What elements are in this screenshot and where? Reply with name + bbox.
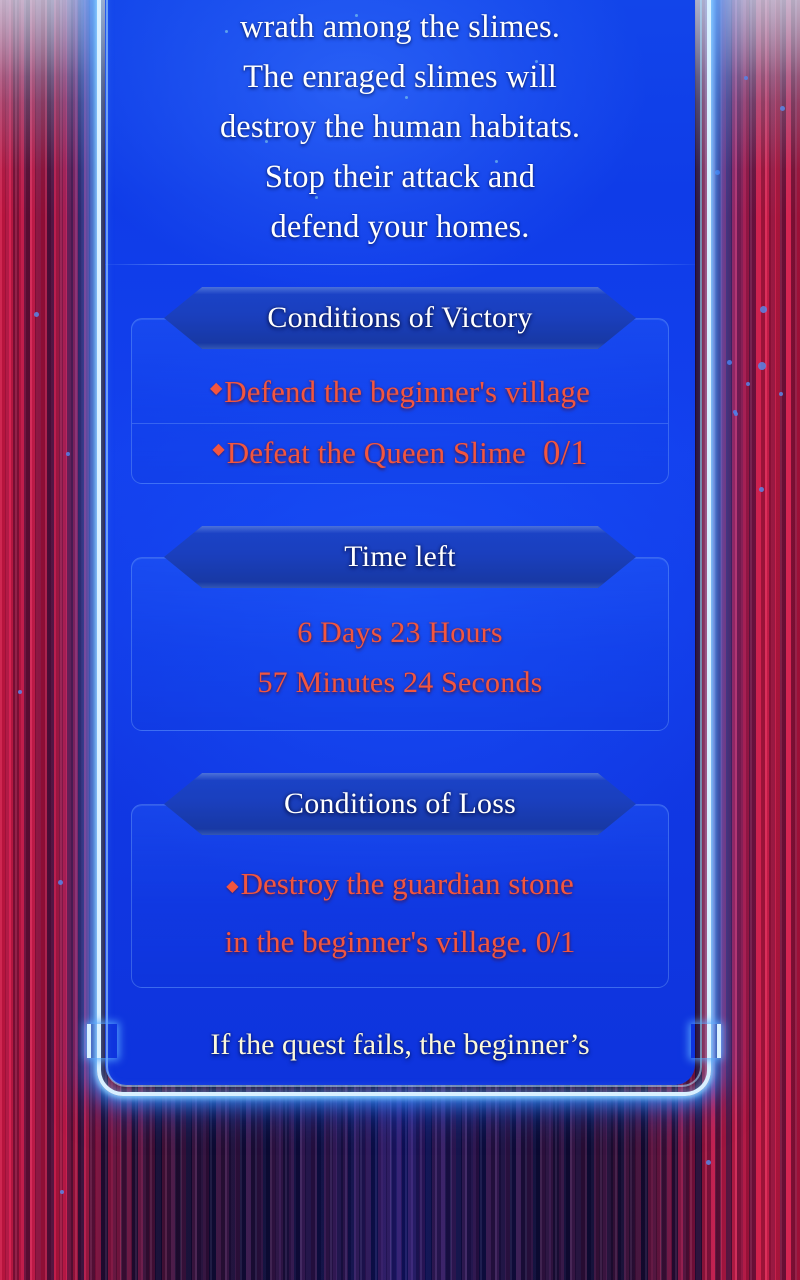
section-title-banner: Conditions of Loss <box>164 773 636 835</box>
quest-panel: wrath among the slimes. The enraged slim… <box>105 0 695 1085</box>
section-title: Conditions of Victory <box>267 301 532 334</box>
quest-description: wrath among the slimes. The enraged slim… <box>131 0 669 252</box>
particle-dot <box>706 1160 711 1165</box>
section-time-left: Time left 6 Days 23 Hours 57 Minutes 24 … <box>131 526 669 731</box>
objective-line-second: in the beginner's village. 0/1 <box>150 913 650 971</box>
particle-dot <box>60 1190 64 1194</box>
section-title-banner: Time left <box>164 526 636 588</box>
description-line: wrath among the slimes. <box>131 2 669 52</box>
objective-label: Defend the beginner's village <box>224 372 590 412</box>
section-conditions-of-loss: Conditions of Loss ◆Destroy the guardian… <box>131 773 669 988</box>
objective-row[interactable]: ◆ Defend the beginner's village <box>132 363 668 423</box>
objective-row[interactable]: ◆Destroy the guardian stone in the begin… <box>132 849 668 987</box>
section-divider <box>105 264 695 265</box>
diamond-bullet-icon: ◆ <box>212 442 224 458</box>
description-line: The enraged slimes will <box>131 52 669 102</box>
section-title: Conditions of Loss <box>284 787 516 820</box>
footer-line: village will be destroyed forever. <box>131 1072 669 1085</box>
objective-row[interactable]: ◆ Defeat the Queen Slime 0/1 <box>132 423 668 483</box>
description-line: Stop their attack and <box>131 152 669 202</box>
section-title: Time left <box>344 540 456 573</box>
objective-line-first: ◆Destroy the guardian stone <box>150 855 650 913</box>
section-title-banner: Conditions of Victory <box>164 287 636 349</box>
objective-label: Defeat the Queen Slime <box>227 433 526 473</box>
description-line: defend your homes. <box>131 202 669 252</box>
time-line: 57 Minutes 24 Seconds <box>132 658 668 708</box>
footer-line: If the quest fails, the beginner’s <box>131 1018 669 1072</box>
diamond-bullet-icon: ◆ <box>226 878 238 895</box>
time-left-value: 6 Days 23 Hours 57 Minutes 24 Seconds <box>132 602 668 730</box>
objective-counter: 0/1 <box>543 433 588 473</box>
description-line: destroy the human habitats. <box>131 102 669 152</box>
time-line: 6 Days 23 Hours <box>132 608 668 658</box>
section-conditions-of-victory: Conditions of Victory ◆ Defend the begin… <box>131 287 669 484</box>
diamond-bullet-icon: ◆ <box>210 381 222 397</box>
quest-failure-note: If the quest fails, the beginner’s villa… <box>131 1018 669 1085</box>
objective-label: Destroy the guardian stone <box>241 866 574 901</box>
